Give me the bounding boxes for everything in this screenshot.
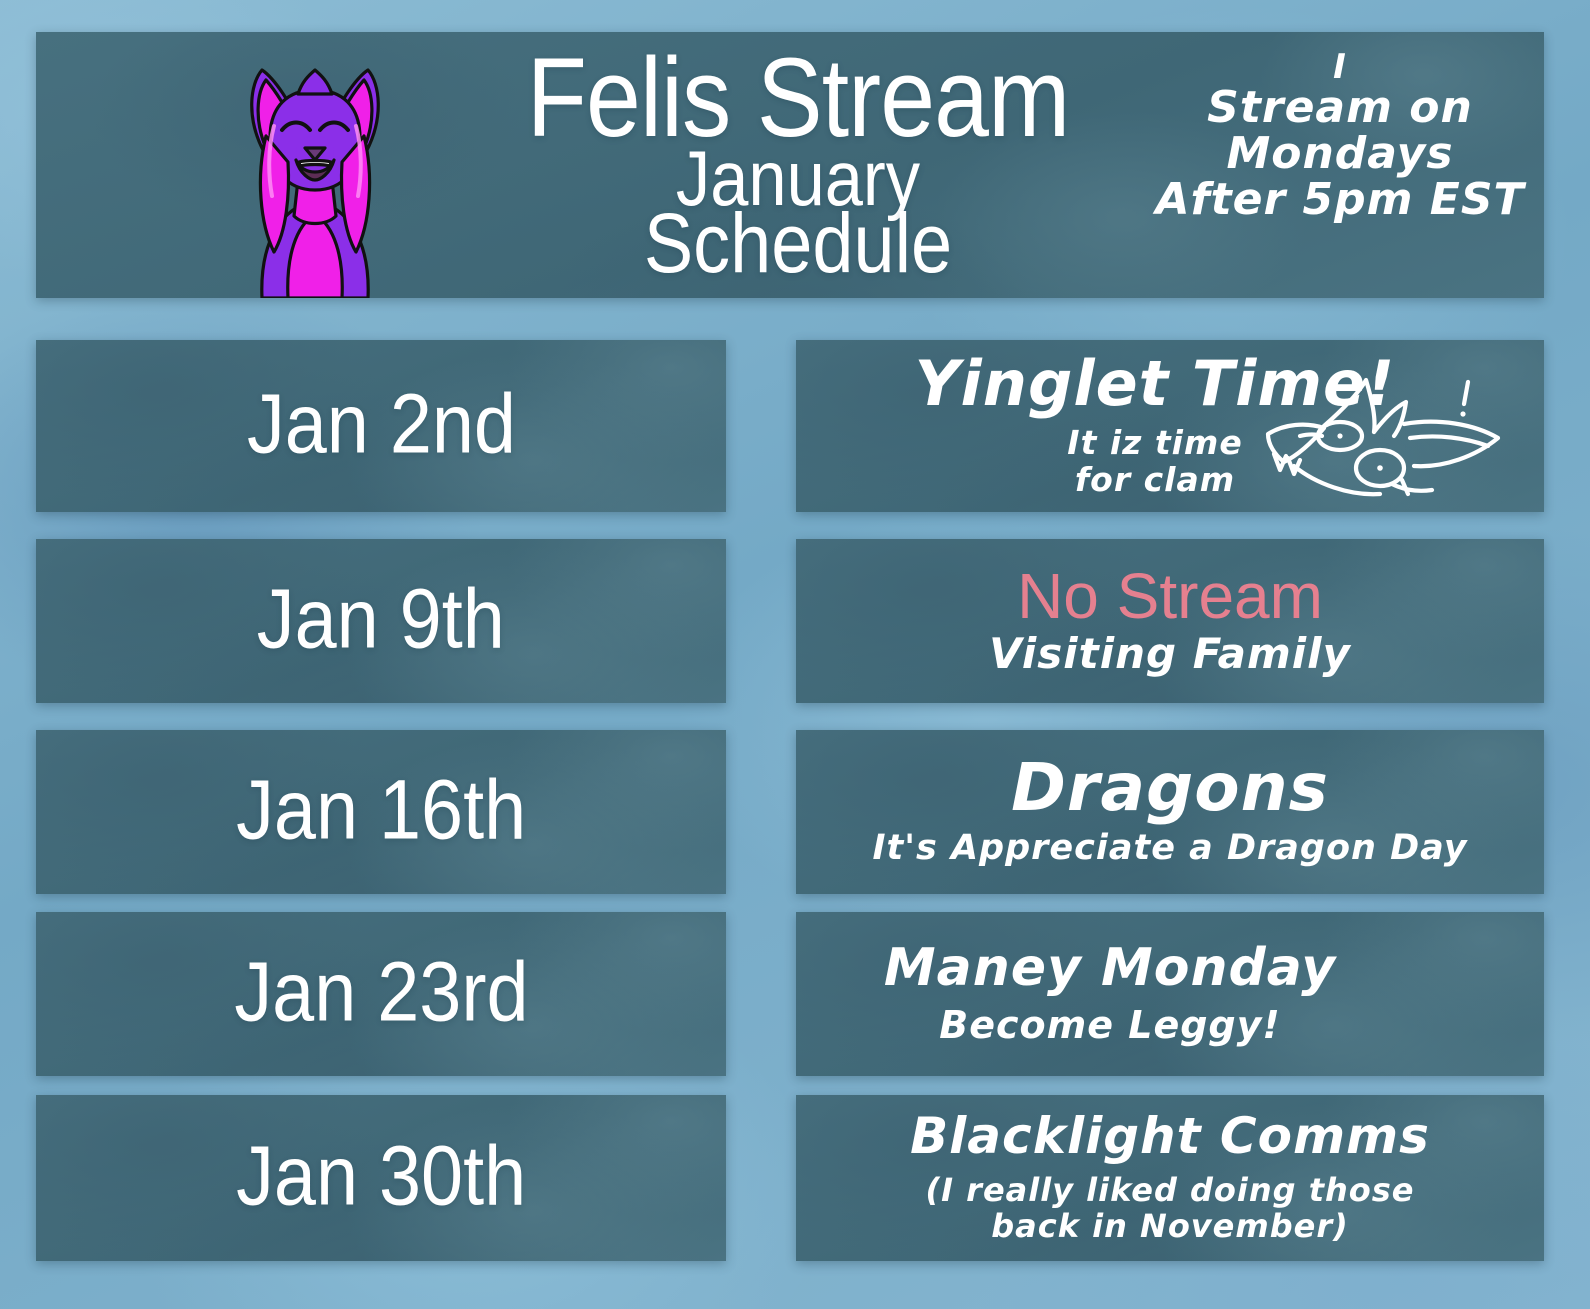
date-panel-row-1: Jan 9th [36, 539, 726, 703]
page-title: Felis Stream January Schedule [408, 46, 1188, 282]
date-panel-row-2: Jan 16th [36, 730, 726, 894]
title-schedule-word: Schedule [455, 205, 1141, 282]
description-panel-row-2: Dragons It's Appreciate a Dragon Day [796, 730, 1544, 894]
stream-time-note: I Stream on Mondays After 5pm EST [1154, 50, 1526, 223]
description-title-row-3: Maney Monday [884, 942, 1336, 994]
date-panel-row-0: Jan 2nd [36, 340, 726, 512]
description-title-row-2: Dragons [1011, 755, 1329, 821]
note-line-1: I [1154, 50, 1526, 85]
date-panel-row-4: Jan 30th [36, 1095, 726, 1261]
date-label-row-0: Jan 2nd [36, 376, 726, 473]
description-panel-row-3: Maney Monday Become Leggy! [796, 912, 1544, 1076]
note-line-4: After 5pm EST [1154, 177, 1526, 223]
description-subtitle-row-2: It's Appreciate a Dragon Day [872, 829, 1467, 868]
description-subtitle-row-4: (I really liked doing those back in Nove… [925, 1173, 1414, 1245]
note-line-3: Mondays [1154, 131, 1526, 177]
description-subtitle-row-0: It iz time for clam [1067, 425, 1242, 499]
description-panel-row-1: No Stream Visiting Family [796, 539, 1544, 703]
note-line-2: Stream on [1154, 85, 1526, 131]
avatar [226, 56, 404, 298]
yinglet-head-doodle-icon [1254, 376, 1504, 506]
description-subtitle-row-3: Become Leggy! [939, 1004, 1280, 1047]
header-panel: Felis Stream January Schedule I Stream o… [36, 32, 1544, 298]
date-panel-row-3: Jan 23rd [36, 912, 726, 1076]
description-title-row-4: Blacklight Comms [910, 1111, 1430, 1161]
schedule-poster: Felis Stream January Schedule I Stream o… [0, 0, 1590, 1309]
description-panel-row-0: Yinglet Time! It iz time for clam [796, 340, 1544, 512]
date-label-row-3: Jan 23rd [36, 944, 726, 1041]
description-subtitle-row-1: Visiting Family [989, 630, 1351, 677]
date-label-row-4: Jan 30th [36, 1128, 726, 1225]
description-title-row-1: No Stream [1017, 564, 1323, 628]
date-label-row-1: Jan 9th [36, 571, 726, 668]
description-panel-row-4: Blacklight Comms (I really liked doing t… [796, 1095, 1544, 1261]
date-label-row-2: Jan 16th [36, 762, 726, 859]
